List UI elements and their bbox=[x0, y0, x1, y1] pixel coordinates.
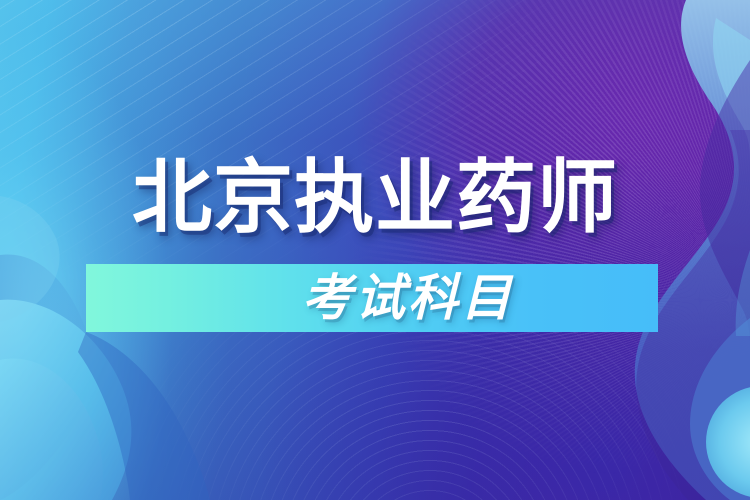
subtitle-label: 考试科目 bbox=[302, 271, 514, 325]
banner-content: 北京执业药师 考试科目 bbox=[0, 0, 750, 500]
page-title: 北京执业药师 bbox=[0, 152, 750, 244]
promo-banner: 北京执业药师 考试科目 bbox=[0, 0, 750, 500]
subtitle-bar: 考试科目 bbox=[86, 264, 658, 332]
